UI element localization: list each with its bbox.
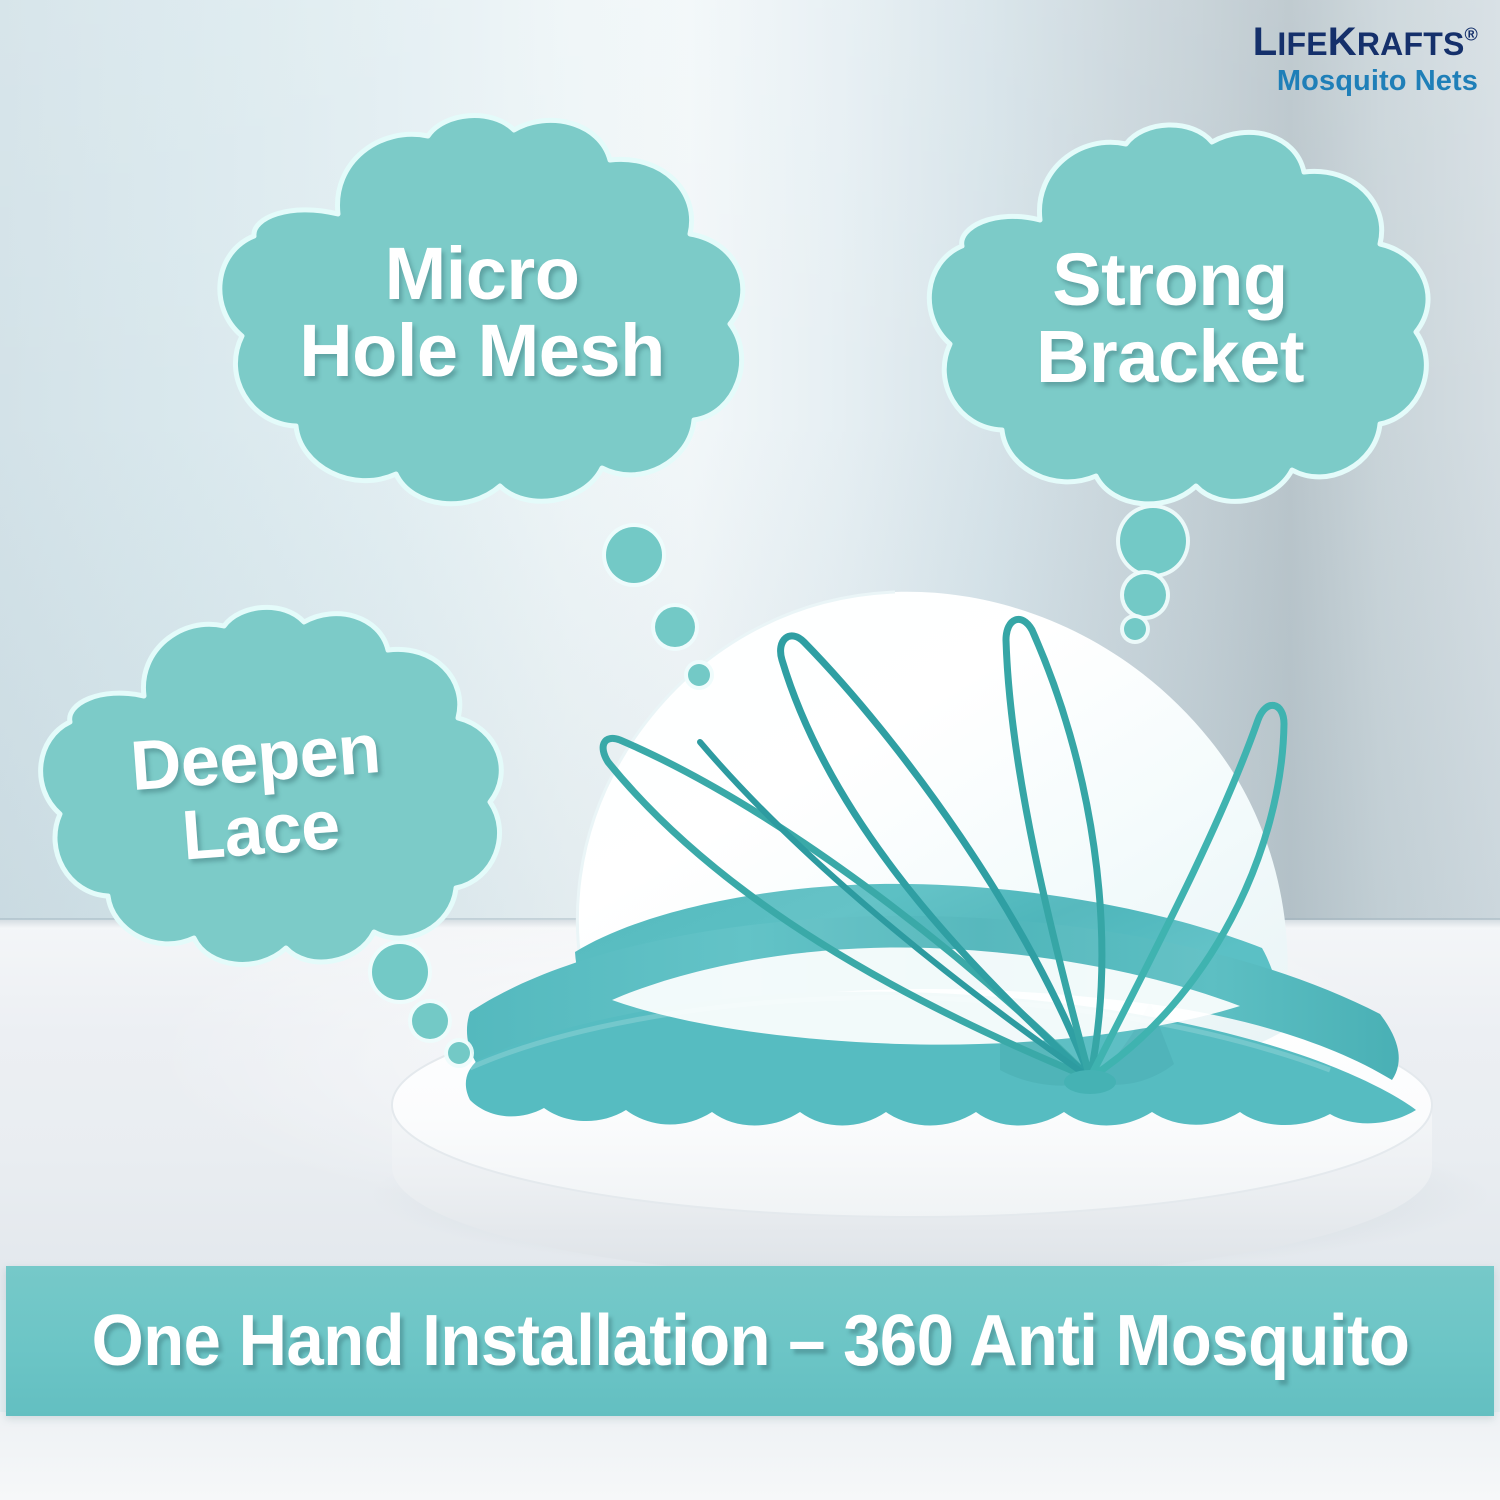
brand-letters-rafts: RAFTS <box>1357 26 1465 62</box>
thought-dot-micro-2 <box>655 607 695 647</box>
product-infographic-scene: Micro Hole Mesh Strong Bracket Deepen La… <box>0 0 1500 1500</box>
brand-letter-k: K <box>1328 20 1357 64</box>
thought-dot-micro-1 <box>606 527 662 583</box>
feature-cloud-strong-bracket: Strong Bracket <box>900 128 1440 510</box>
headline-banner: One Hand Installation – 360 Anti Mosquit… <box>6 1266 1494 1416</box>
brand-name: LIFEKRAFTS® <box>1253 22 1478 62</box>
thought-dot-micro-3 <box>688 664 710 686</box>
thought-dot-deepen-2 <box>412 1003 448 1039</box>
thought-dot-deepen-3 <box>448 1042 470 1064</box>
brand-letter-l: L <box>1253 20 1278 64</box>
feature-cloud-micro-hole-mesh: Micro Hole Mesh <box>192 118 772 518</box>
registered-trademark-icon: ® <box>1465 25 1478 45</box>
brand-tagline: Mosquito Nets <box>1253 67 1478 96</box>
feature-cloud-deepen-lace: Deepen Lace <box>24 610 492 978</box>
brand-logo: LIFEKRAFTS® Mosquito Nets <box>1253 22 1478 96</box>
thought-dot-strong-2 <box>1124 574 1166 616</box>
thought-dot-strong-1 <box>1120 508 1186 574</box>
bracket-hub <box>1064 1070 1116 1094</box>
thought-dot-strong-3 <box>1124 618 1146 640</box>
brand-letters-ife: IFE <box>1277 26 1327 62</box>
headline-banner-text: One Hand Installation – 360 Anti Mosquit… <box>91 1300 1409 1382</box>
